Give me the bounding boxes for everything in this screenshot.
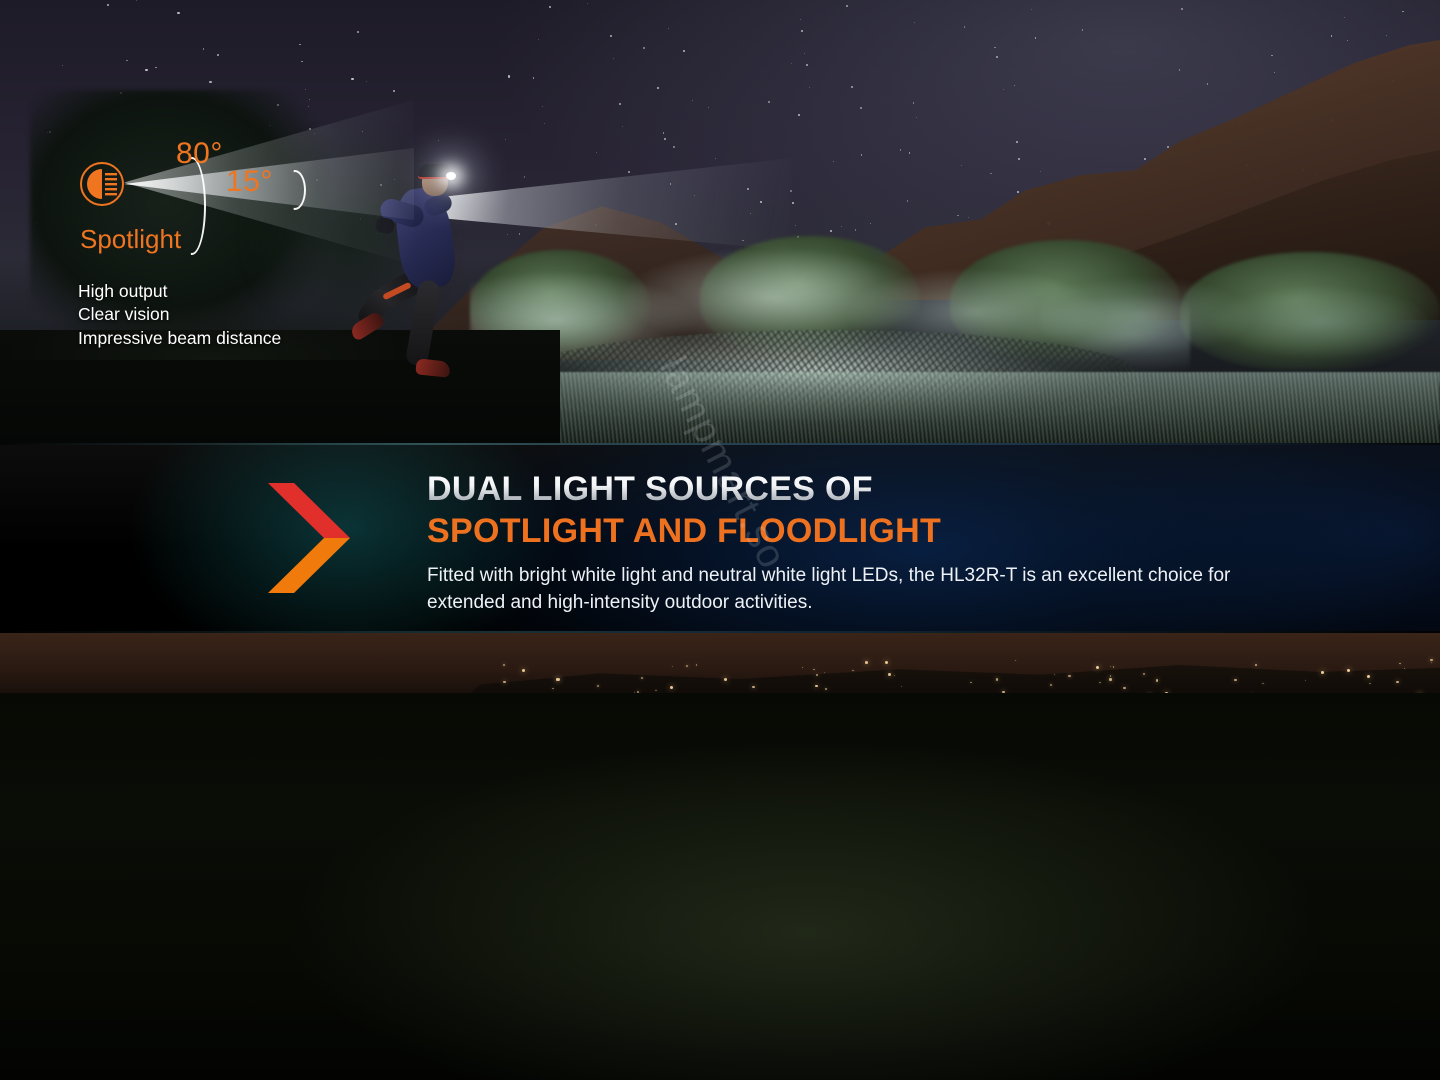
list-item: Impressive beam distance [78,327,281,350]
chevron-right-icon [268,483,350,593]
spotlight-narrow-beam-icon [80,162,124,206]
product-feature-page: 80° 15° Spotlight High output Clear visi… [0,0,1440,1080]
list-item: High output [78,280,281,303]
dark-field [0,693,1440,1080]
angle-label-outer-text: 80° [176,137,223,170]
spotlight-scene: 80° 15° Spotlight High output Clear visi… [0,0,1440,443]
banner-text-block: DUAL LIGHT SOURCES OF SPOTLIGHT AND FLOO… [427,469,1247,616]
headlamp-light [446,172,456,180]
banner-headline-line1: DUAL LIGHT SOURCES OF [427,469,1247,509]
list-item: Clear vision [78,303,281,326]
banner-body-text: Fitted with bright white light and neutr… [427,562,1247,617]
banner-headline-line2: SPOTLIGHT AND FLOODLIGHT [427,511,1247,552]
spotlight-bullets: High output Clear vision Impressive beam… [78,280,281,350]
floodlight-scene: 80° Floodlight Broad illumination area W… [0,633,1440,1080]
angle-label-inner-text: 15° [226,165,273,198]
spotlight-title: Spotlight [80,224,181,255]
banner-top-divider [0,443,1440,445]
angle-label-inner: 15° [226,165,273,199]
angle-label-outer: 80° [176,137,223,171]
